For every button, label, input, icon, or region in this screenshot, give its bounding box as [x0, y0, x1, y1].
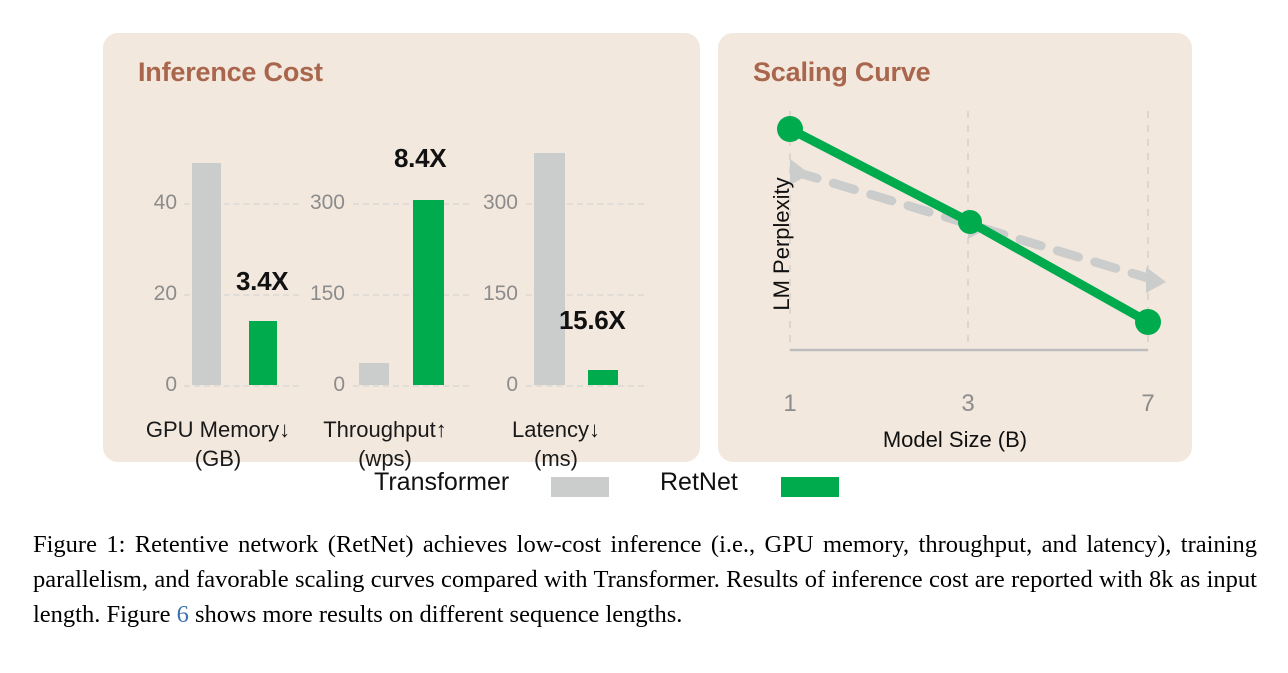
- tick-label-gpu-40: 40: [125, 192, 177, 213]
- marker-transformer-7: [1146, 267, 1166, 293]
- figure-caption: Figure 1: Retentive network (RetNet) ach…: [33, 528, 1257, 632]
- bar-gpu-retnet: [249, 321, 277, 385]
- panel-inference-cost: Inference Cost 40 20 0 3.4X GPU Memory↓ …: [103, 33, 700, 462]
- legend-label-retnet: RetNet: [660, 468, 738, 497]
- bar-group-throughput: 300 150 0 8.4X Throughput↑ (wps): [293, 33, 483, 462]
- category-label-latency: Latency↓ (ms): [441, 415, 671, 473]
- figure-area: Inference Cost 40 20 0 3.4X GPU Memory↓ …: [0, 0, 1288, 520]
- gridline-thr-150: [353, 294, 469, 296]
- legend: Transformer RetNet: [0, 468, 1288, 506]
- bar-lat-retnet: [588, 370, 618, 385]
- caption-reference-link[interactable]: 6: [177, 601, 189, 628]
- y-axis-label: LM Perplexity: [769, 144, 795, 344]
- legend-label-transformer: Transformer: [374, 468, 509, 497]
- bar-gpu-transformer: [192, 163, 221, 385]
- category-label-gpu-memory-line1: GPU Memory↓: [146, 417, 290, 442]
- bar-thr-transformer: [359, 363, 389, 385]
- tick-label-thr-150: 150: [283, 283, 345, 304]
- tick-label-lat-0: 0: [456, 374, 518, 395]
- bar-value-lat-speedup: 15.6X: [559, 305, 625, 336]
- bar-lat-transformer: [534, 153, 565, 385]
- tick-label-thr-300: 300: [283, 192, 345, 213]
- x-axis-label: Model Size (B): [718, 427, 1192, 453]
- tick-label-gpu-20: 20: [125, 283, 177, 304]
- marker-retnet-3: [958, 210, 982, 234]
- bar-value-thr-speedup: 8.4X: [394, 143, 446, 174]
- marker-retnet-1: [777, 116, 803, 142]
- gridline-gpu-0: [184, 385, 299, 387]
- gridline-lat-0: [526, 385, 644, 387]
- category-label-latency-line1: Latency↓: [512, 417, 600, 442]
- tick-label-lat-300: 300: [456, 192, 518, 213]
- tick-label-thr-0: 0: [283, 374, 345, 395]
- marker-retnet-7: [1135, 309, 1161, 335]
- bar-value-gpu-speedup: 3.4X: [236, 266, 288, 297]
- x-tick-1: 1: [770, 390, 810, 418]
- gridline-thr-300: [353, 203, 469, 205]
- legend-swatch-retnet: [781, 477, 839, 497]
- bar-group-gpu-memory: 40 20 0 3.4X GPU Memory↓ (GB): [123, 33, 313, 462]
- x-tick-7: 7: [1128, 390, 1168, 418]
- caption-part-2: shows more results on different sequence…: [189, 601, 683, 628]
- bar-group-latency: 300 150 0 15.6X Latency↓ (ms): [466, 33, 656, 462]
- gridline-thr-0: [353, 385, 469, 387]
- legend-swatch-transformer: [551, 477, 609, 497]
- panel-scaling-curve: Scaling Curve LM Perplexity 1 3 7 Model …: [718, 33, 1192, 462]
- tick-label-lat-150: 150: [456, 283, 518, 304]
- category-label-throughput-line1: Throughput↑: [323, 417, 447, 442]
- tick-label-gpu-0: 0: [125, 374, 177, 395]
- bar-thr-retnet: [413, 200, 444, 385]
- x-tick-3: 3: [948, 390, 988, 418]
